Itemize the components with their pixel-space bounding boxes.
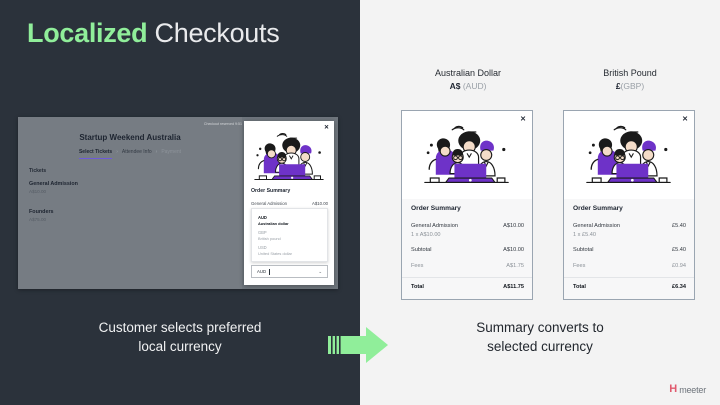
checkout-screenshot-dimmed-area [18,117,242,289]
ticket-name: Founders [29,209,54,215]
summary-fees-label: Fees [411,263,423,269]
summary-row-fees: Fees A$1.75 [411,263,524,269]
summary-total-value: A$11.75 [503,284,524,290]
currency-symbol-code: A$ (AUD) [388,80,548,93]
slide-root: Localized Checkouts Checkout reserved 9:… [0,0,720,405]
currency-option-name: United States dollar [258,251,321,256]
summary-item-value: A$10.00 [503,223,524,229]
step-separator-1: › [112,149,122,155]
summary-row-item-qty: 1 x A$10.00 [411,232,524,238]
ticket-row-founders: Founders A$75.00 [29,209,54,222]
logo-mark-icon: H [669,384,676,395]
summary-row-subtotal: Subtotal £5.40 [573,247,686,253]
text-caret [269,269,270,275]
brand-logo: H meeter [669,384,706,395]
currency-header-gbp: British Pound £(GBP) [550,67,710,93]
currency-option-gbp[interactable]: GBP British pound [252,228,327,243]
caption-right-line2: selected currency [360,337,720,356]
currency-option-name: Australian dollar [258,221,321,226]
summary-item-label: General Admission [411,223,458,229]
ticket-price: A$75.00 [29,217,54,222]
title-rest: Checkouts [147,18,279,48]
currency-option-code: GBP [258,230,321,235]
currency-symbol-code: £(GBP) [550,80,710,93]
currency-option-name: British pound [258,236,321,241]
caption-right-line1: Summary converts to [360,318,720,337]
summary-item-value: £5.40 [672,223,686,229]
step-attendee-info[interactable]: Attendee Info [122,149,152,155]
summary-row-item-qty: 1 x £5.40 [573,232,686,238]
checkout-stepper: Select Tickets›Attendee Info›Payment [18,149,242,155]
title-highlight: Localized [27,18,147,48]
currency-option-usd[interactable]: USD United States dollar [252,243,327,258]
summary-row-subtotal: Subtotal A$10.00 [411,247,524,253]
step-separator-2: › [152,149,162,155]
summary-item-label: General Admission [573,223,620,229]
caption-left-line1: Customer selects preferred [0,318,360,337]
order-summary-title: Order Summary [573,205,623,212]
currency-dropdown-list[interactable]: AUD Australian dollar GBP British pound … [251,208,328,262]
flow-arrow [328,325,390,365]
order-summary-title: Order Summary [251,188,290,194]
checkout-screenshot: Checkout reserved 9:51 Startup Weekend A… [18,117,338,289]
summary-row-item: General Admission A$10.00 [411,223,524,229]
summary-row-fees: Fees £0.94 [573,263,686,269]
currency-symbol: A$ [450,81,461,91]
summary-total-label: Total [573,284,586,290]
caption-left-line2: local currency [0,337,360,356]
caption-right: Summary converts to selected currency [360,318,720,356]
order-summary-line-value: A$10.00 [312,201,328,206]
summary-total-label: Total [411,284,424,290]
order-summary-body: Order Summary General Admission £5.40 1 … [564,199,694,299]
currency-option-code: USD [258,245,321,250]
checkout-timer: Checkout reserved 9:51 [204,122,242,126]
summary-subtotal-value: A$10.00 [503,247,524,253]
summary-total-value: £6.34 [672,284,686,290]
currency-name: Australian Dollar [388,67,548,80]
currency-name: British Pound [550,67,710,80]
step-payment: Payment [161,149,181,155]
summary-subtotal-value: £5.40 [672,247,686,253]
summary-divider [402,277,532,278]
currency-header-aud: Australian Dollar A$ (AUD) [388,67,548,93]
summary-subtotal-label: Subtotal [411,247,432,253]
ticket-name: General Admission [29,181,78,187]
currency-select-input[interactable]: AUD ⌄ [251,265,328,278]
illustration-people-at-laptop [408,121,525,189]
currency-option-aud[interactable]: AUD Australian dollar [252,213,327,228]
order-summary-title: Order Summary [411,205,461,212]
currency-code: (AUD) [463,81,487,91]
summary-row-total: Total £6.34 [573,284,686,290]
currency-code: (GBP) [621,81,645,91]
right-arrow-icon [328,325,390,365]
currency-select-value: AUD [257,269,266,274]
order-summary-card-aud: ✕ [401,110,533,300]
ticket-price: A$10.00 [29,189,78,194]
summary-divider [564,277,694,278]
summary-item-qty: 1 x £5.40 [573,232,596,238]
summary-row-total: Total A$11.75 [411,284,524,290]
summary-fees-label: Fees [573,263,585,269]
summary-item-qty: 1 x A$10.00 [411,232,441,238]
caption-left: Customer selects preferred local currenc… [0,318,360,356]
summary-subtotal-label: Subtotal [573,247,594,253]
ticket-row-general-admission: General Admission A$10.00 [29,181,78,194]
order-summary-body: Order Summary General Admission A$10.00 … [402,199,532,299]
summary-fees-value: £0.94 [672,263,686,269]
order-summary-card-gbp: ✕ [563,110,695,300]
order-summary-panel: ✕ [244,121,334,285]
currency-option-code: AUD [258,215,321,220]
illustration-people-at-laptop [244,129,334,185]
order-summary-line: General Admission A$10.00 [251,201,328,206]
tickets-section-label: Tickets [29,168,46,174]
logo-wordmark: meeter [679,385,706,395]
page-title: Localized Checkouts [27,18,279,49]
step-select-tickets[interactable]: Select Tickets [79,149,112,159]
summary-row-item: General Admission £5.40 [573,223,686,229]
illustration-people-at-laptop [570,121,687,189]
chevron-down-icon[interactable]: ⌄ [318,269,322,275]
summary-fees-value: A$1.75 [506,263,524,269]
checkout-event-title: Startup Weekend Australia [18,133,242,142]
order-summary-line-label: General Admission [251,201,287,206]
